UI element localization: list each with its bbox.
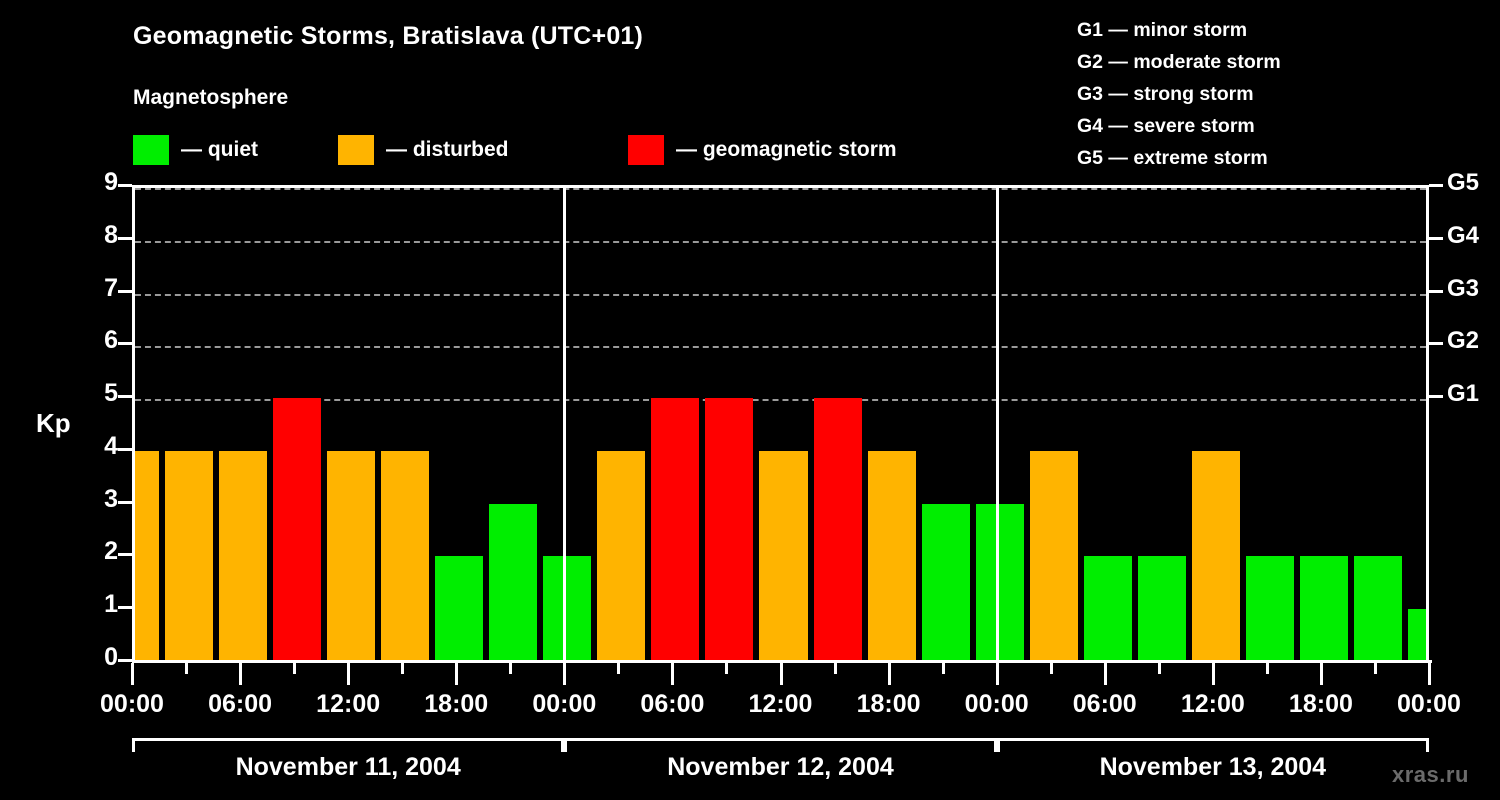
bar-20 <box>1246 556 1294 662</box>
x-tick-minor-33h <box>725 663 728 674</box>
x-tick-minor-39h <box>834 663 837 674</box>
bar-4 <box>381 451 429 662</box>
y-tick-mark-9 <box>118 184 132 187</box>
x-tick-major-36h <box>780 663 783 685</box>
gridline-kp-9 <box>135 188 1426 190</box>
x-tick-label-8: 00:00 <box>965 690 1029 719</box>
g-tick-label-G3: G3 <box>1447 275 1479 303</box>
x-tick-label-0: 00:00 <box>100 690 164 719</box>
g-key-line-2: G2 — moderate storm <box>1077 46 1281 78</box>
gridline-kp-6 <box>135 346 1426 348</box>
legend-swatch-quiet <box>133 135 169 165</box>
x-tick-major-0h <box>131 663 134 685</box>
bar-22 <box>1354 556 1402 662</box>
x-tick-minor-9h <box>293 663 296 674</box>
y-tick-label-9: 9 <box>78 168 118 197</box>
page-title: Geomagnetic Storms, Bratislava (UTC+01) <box>133 22 643 51</box>
legend-item-quiet: — quiet <box>133 133 258 167</box>
bar-14 <box>922 504 970 662</box>
g-key-line-4: G4 — severe storm <box>1077 110 1281 142</box>
x-tick-label-6: 12:00 <box>749 690 813 719</box>
legend-swatch-disturbed <box>338 135 374 165</box>
bar-21 <box>1300 556 1348 662</box>
y-tick-label-7: 7 <box>78 274 118 303</box>
bar-16 <box>1030 451 1078 662</box>
date-bracket-2 <box>564 738 996 752</box>
x-tick-label-10: 12:00 <box>1181 690 1245 719</box>
x-tick-major-18h <box>455 663 458 685</box>
y-tick-label-2: 2 <box>78 537 118 566</box>
bar-8 <box>597 451 645 662</box>
chart-page: Geomagnetic Storms, Bratislava (UTC+01) … <box>0 0 1500 800</box>
y-tick-mark-0 <box>118 659 132 662</box>
date-label-2: November 12, 2004 <box>667 753 894 782</box>
day-separator-2 <box>996 185 999 660</box>
x-tick-major-42h <box>888 663 891 685</box>
y-tick-mark-8 <box>118 237 132 240</box>
g-tick-label-G5: G5 <box>1447 169 1479 197</box>
y-tick-label-6: 6 <box>78 326 118 355</box>
x-tick-major-72h <box>1428 663 1431 685</box>
bar-7 <box>543 556 591 662</box>
gridline-kp-8 <box>135 241 1426 243</box>
y-axis-title: Kp <box>36 408 71 439</box>
g-tick-label-G2: G2 <box>1447 327 1479 355</box>
watermark: xras.ru <box>1392 762 1469 788</box>
bar-partial-leading <box>135 451 159 662</box>
legend-swatch-geomagnetic-storm <box>628 135 664 165</box>
y-tick-label-1: 1 <box>78 590 118 619</box>
y-tick-mark-6 <box>118 342 132 345</box>
x-tick-minor-69h <box>1374 663 1377 674</box>
g-tick-mark-G3 <box>1429 290 1443 293</box>
y-tick-label-5: 5 <box>78 379 118 408</box>
x-tick-major-6h <box>239 663 242 685</box>
bar-13 <box>868 451 916 662</box>
date-label-3: November 13, 2004 <box>1100 753 1327 782</box>
y-tick-mark-4 <box>118 448 132 451</box>
bar-0 <box>165 451 213 662</box>
bar-19 <box>1192 451 1240 662</box>
y-tick-label-4: 4 <box>78 432 118 461</box>
x-tick-minor-45h <box>942 663 945 674</box>
y-tick-label-0: 0 <box>78 643 118 672</box>
x-tick-major-12h <box>347 663 350 685</box>
x-tick-minor-15h <box>401 663 404 674</box>
y-tick-mark-5 <box>118 395 132 398</box>
day-separator-1 <box>563 185 566 660</box>
g-tick-label-G4: G4 <box>1447 222 1479 250</box>
bar-2 <box>273 398 321 662</box>
bar-17 <box>1084 556 1132 662</box>
x-tick-label-5: 06:00 <box>640 690 704 719</box>
y-tick-mark-2 <box>118 553 132 556</box>
g-tick-mark-G2 <box>1429 342 1443 345</box>
x-tick-minor-3h <box>185 663 188 674</box>
x-tick-label-11: 18:00 <box>1289 690 1353 719</box>
g-tick-mark-G4 <box>1429 237 1443 240</box>
x-tick-major-66h <box>1320 663 1323 685</box>
legend-heading: Magnetosphere <box>133 86 288 110</box>
x-tick-major-30h <box>671 663 674 685</box>
bar-23 <box>1408 609 1426 662</box>
bar-5 <box>435 556 483 662</box>
bar-6 <box>489 504 537 662</box>
gridline-kp-7 <box>135 294 1426 296</box>
x-tick-major-48h <box>996 663 999 685</box>
y-tick-mark-1 <box>118 606 132 609</box>
legend-item-disturbed: — disturbed <box>338 133 509 167</box>
date-bracket-1 <box>132 738 564 752</box>
g-tick-mark-G1 <box>1429 395 1443 398</box>
x-tick-major-60h <box>1212 663 1215 685</box>
g-tick-mark-G5 <box>1429 184 1443 187</box>
bar-18 <box>1138 556 1186 662</box>
x-tick-label-1: 06:00 <box>208 690 272 719</box>
x-tick-label-12: 00:00 <box>1397 690 1461 719</box>
x-tick-major-54h <box>1104 663 1107 685</box>
y-tick-label-8: 8 <box>78 221 118 250</box>
gridline-kp-5 <box>135 399 1426 401</box>
x-tick-label-4: 00:00 <box>532 690 596 719</box>
legend-label-geomagnetic-storm: — geomagnetic storm <box>676 138 897 162</box>
legend-label-disturbed: — disturbed <box>386 138 509 162</box>
plot-inner <box>135 188 1426 662</box>
plot-area <box>132 185 1429 662</box>
bar-10 <box>705 398 753 662</box>
bar-9 <box>651 398 699 662</box>
bar-11 <box>759 451 807 662</box>
x-tick-label-9: 06:00 <box>1073 690 1137 719</box>
x-tick-minor-27h <box>617 663 620 674</box>
g-key-line-5: G5 — extreme storm <box>1077 142 1281 174</box>
y-tick-mark-7 <box>118 290 132 293</box>
x-tick-minor-21h <box>509 663 512 674</box>
g-scale-key: G1 — minor stormG2 — moderate stormG3 — … <box>1077 14 1281 174</box>
x-tick-label-7: 18:00 <box>857 690 921 719</box>
g-tick-label-G1: G1 <box>1447 380 1479 408</box>
y-tick-mark-3 <box>118 501 132 504</box>
x-tick-minor-63h <box>1266 663 1269 674</box>
x-tick-label-3: 18:00 <box>424 690 488 719</box>
g-key-line-3: G3 — strong storm <box>1077 78 1281 110</box>
date-label-1: November 11, 2004 <box>236 753 461 782</box>
legend-label-quiet: — quiet <box>181 138 258 162</box>
x-tick-label-2: 12:00 <box>316 690 380 719</box>
bar-15 <box>976 504 1024 662</box>
x-tick-major-24h <box>563 663 566 685</box>
date-bracket-3 <box>997 738 1429 752</box>
legend-item-geomagnetic-storm: — geomagnetic storm <box>628 133 897 167</box>
bar-12 <box>814 398 862 662</box>
bar-3 <box>327 451 375 662</box>
x-tick-minor-57h <box>1158 663 1161 674</box>
bar-1 <box>219 451 267 662</box>
y-tick-label-3: 3 <box>78 485 118 514</box>
x-tick-minor-51h <box>1050 663 1053 674</box>
g-key-line-1: G1 — minor storm <box>1077 14 1281 46</box>
